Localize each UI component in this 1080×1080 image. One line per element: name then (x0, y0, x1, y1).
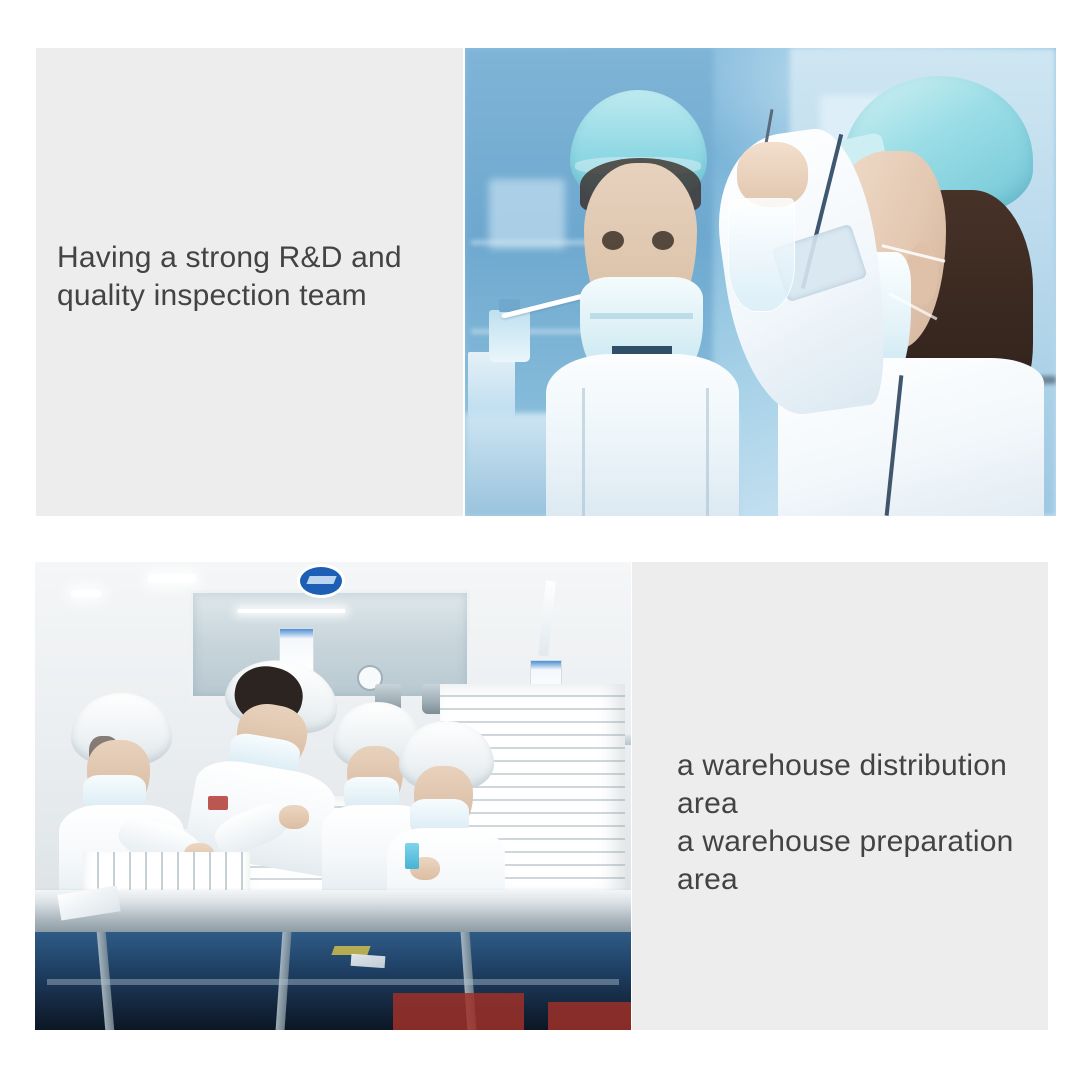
red-floor-object (393, 993, 524, 1030)
ceiling-light (71, 590, 101, 597)
table-shelf-bar (47, 979, 619, 985)
window-light-strip (238, 609, 345, 613)
top-block: Having a strong R&D and quality inspecti… (36, 48, 1056, 516)
glass-flask (728, 198, 795, 312)
lab-technician-front (542, 90, 743, 516)
eye (602, 231, 624, 250)
lab-beaker (468, 352, 515, 418)
lab-coat-lapel (582, 388, 709, 516)
stainless-steel-table (35, 890, 631, 932)
warehouse-packing-photo (35, 562, 631, 1030)
top-caption-text: Having a strong R&D and quality inspecti… (57, 239, 457, 315)
paper-sheet (350, 954, 385, 968)
red-object (208, 796, 228, 810)
top-caption-panel: Having a strong R&D and quality inspecti… (36, 48, 463, 516)
red-floor-object (548, 1002, 631, 1030)
bottom-block: a warehouse distribution area a warehous… (35, 562, 1048, 1030)
eye (652, 231, 674, 250)
slide-canvas: Having a strong R&D and quality inspecti… (0, 0, 1080, 1080)
hand (279, 805, 309, 828)
lab-reagent-bottle (489, 310, 530, 361)
ceiling-light (148, 574, 196, 583)
blue-package (405, 843, 419, 869)
bottom-caption-text: a warehouse distribution area a warehous… (677, 747, 1057, 899)
lab-quality-inspection-photo (465, 48, 1056, 516)
bottom-caption-panel: a warehouse distribution area a warehous… (632, 562, 1048, 1030)
